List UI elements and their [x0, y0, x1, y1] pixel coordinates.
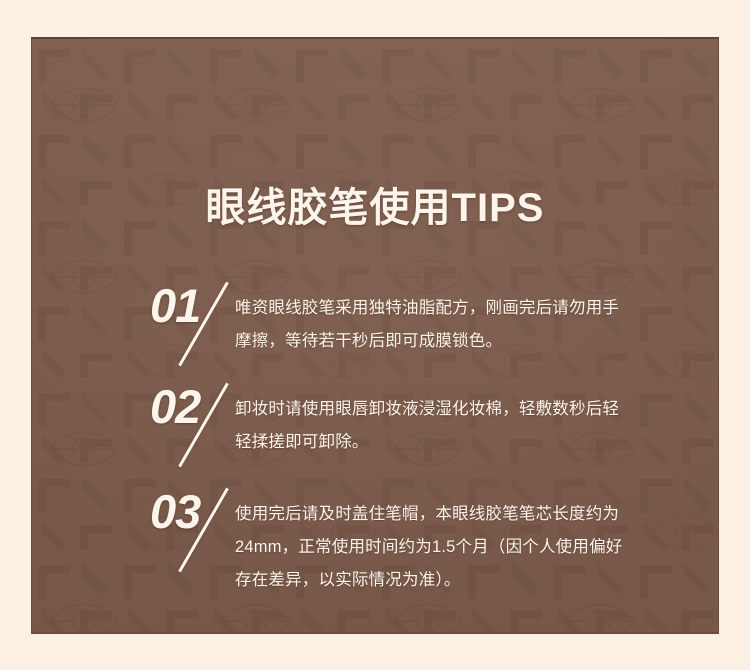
- page-title: 眼线胶笔使用TIPS: [32, 188, 718, 228]
- tip-line: 24mm，正常使用时间约为1.5个月（因个人使用偏好: [235, 531, 678, 564]
- tip-slash-decoration: [178, 488, 229, 573]
- tip-slash-decoration: [178, 282, 229, 367]
- tip-line: 使用完后请及时盖住笔帽，本眼线胶笔笔芯长度约为: [235, 498, 678, 531]
- tips-panel: 眼线胶笔使用TIPS 01 唯资眼线胶笔采用独特油脂配方，刚画完后请勿用手 摩擦…: [31, 37, 719, 634]
- tip-line: 唯资眼线胶笔采用独特油脂配方，刚画完后请勿用手: [235, 292, 678, 325]
- tip-text: 使用完后请及时盖住笔帽，本眼线胶笔笔芯长度约为 24mm，正常使用时间约为1.5…: [235, 498, 678, 597]
- tip-line: 存在差异，以实际情况为准）。: [235, 564, 678, 597]
- tip-line: 轻揉搓即可卸除。: [235, 426, 678, 459]
- tip-text: 卸妆时请使用眼唇卸妆液浸湿化妆棉，轻敷数秒后轻 轻揉搓即可卸除。: [235, 393, 678, 459]
- tip-number: 03: [150, 488, 200, 535]
- tip-number: 01: [150, 282, 200, 329]
- tip-line: 摩擦，等待若干秒后即可成膜锁色。: [235, 325, 678, 358]
- tip-text: 唯资眼线胶笔采用独特油脂配方，刚画完后请勿用手 摩擦，等待若干秒后即可成膜锁色。: [235, 292, 678, 358]
- tip-slash-decoration: [178, 383, 229, 468]
- product-tips-page: 眼线胶笔使用TIPS 01 唯资眼线胶笔采用独特油脂配方，刚画完后请勿用手 摩擦…: [0, 0, 750, 670]
- tip-number: 02: [150, 383, 200, 430]
- tip-line: 卸妆时请使用眼唇卸妆液浸湿化妆棉，轻敷数秒后轻: [235, 393, 678, 426]
